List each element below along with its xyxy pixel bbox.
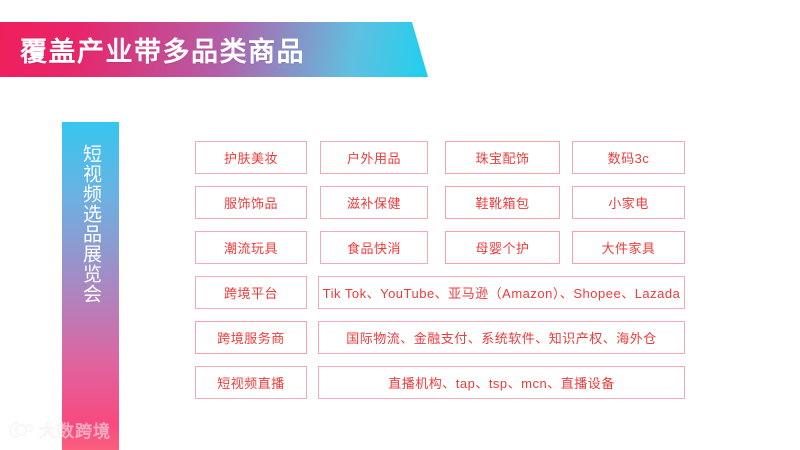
category-cell[interactable]: 小家电 — [572, 186, 685, 219]
category-cell[interactable]: 滋补保健 — [320, 186, 428, 219]
category-value-cell[interactable]: 直播机构、tap、tsp、mcn、直播设备 — [318, 366, 685, 399]
camera-circles-icon — [8, 421, 34, 439]
category-value-cell[interactable]: 国际物流、金融支付、系统软件、知识产权、海外仓 — [318, 321, 685, 354]
category-cell[interactable]: 服饰饰品 — [195, 186, 307, 219]
category-cell[interactable]: 数码3c — [572, 141, 685, 174]
category-cell[interactable]: 护肤美妆 — [195, 141, 307, 174]
page-title: 覆盖产业带多品类商品 — [20, 30, 305, 69]
category-cell[interactable]: 母婴个护 — [445, 231, 560, 264]
category-label-cell[interactable]: 跨境平台 — [195, 276, 307, 309]
category-cell[interactable]: 潮流玩具 — [195, 231, 307, 264]
header-banner: 覆盖产业带多品类商品 — [0, 22, 428, 77]
category-cell[interactable]: 大件家具 — [572, 231, 685, 264]
category-cell[interactable]: 珠宝配饰 — [445, 141, 560, 174]
category-cell[interactable]: 食品快消 — [320, 231, 428, 264]
category-label-cell[interactable]: 短视频直播 — [195, 366, 307, 399]
category-value-cell[interactable]: Tik Tok、YouTube、亚马逊（Amazon）、Shopee、Lazad… — [318, 276, 685, 309]
sidebar-vertical-label: 短视频选品展览会 — [62, 144, 119, 434]
category-label-cell[interactable]: 跨境服务商 — [195, 321, 307, 354]
vertical-title-sidebar: 短视频选品展览会 — [62, 122, 119, 450]
category-cell[interactable]: 鞋靴箱包 — [445, 186, 560, 219]
category-cell[interactable]: 户外用品 — [320, 141, 428, 174]
